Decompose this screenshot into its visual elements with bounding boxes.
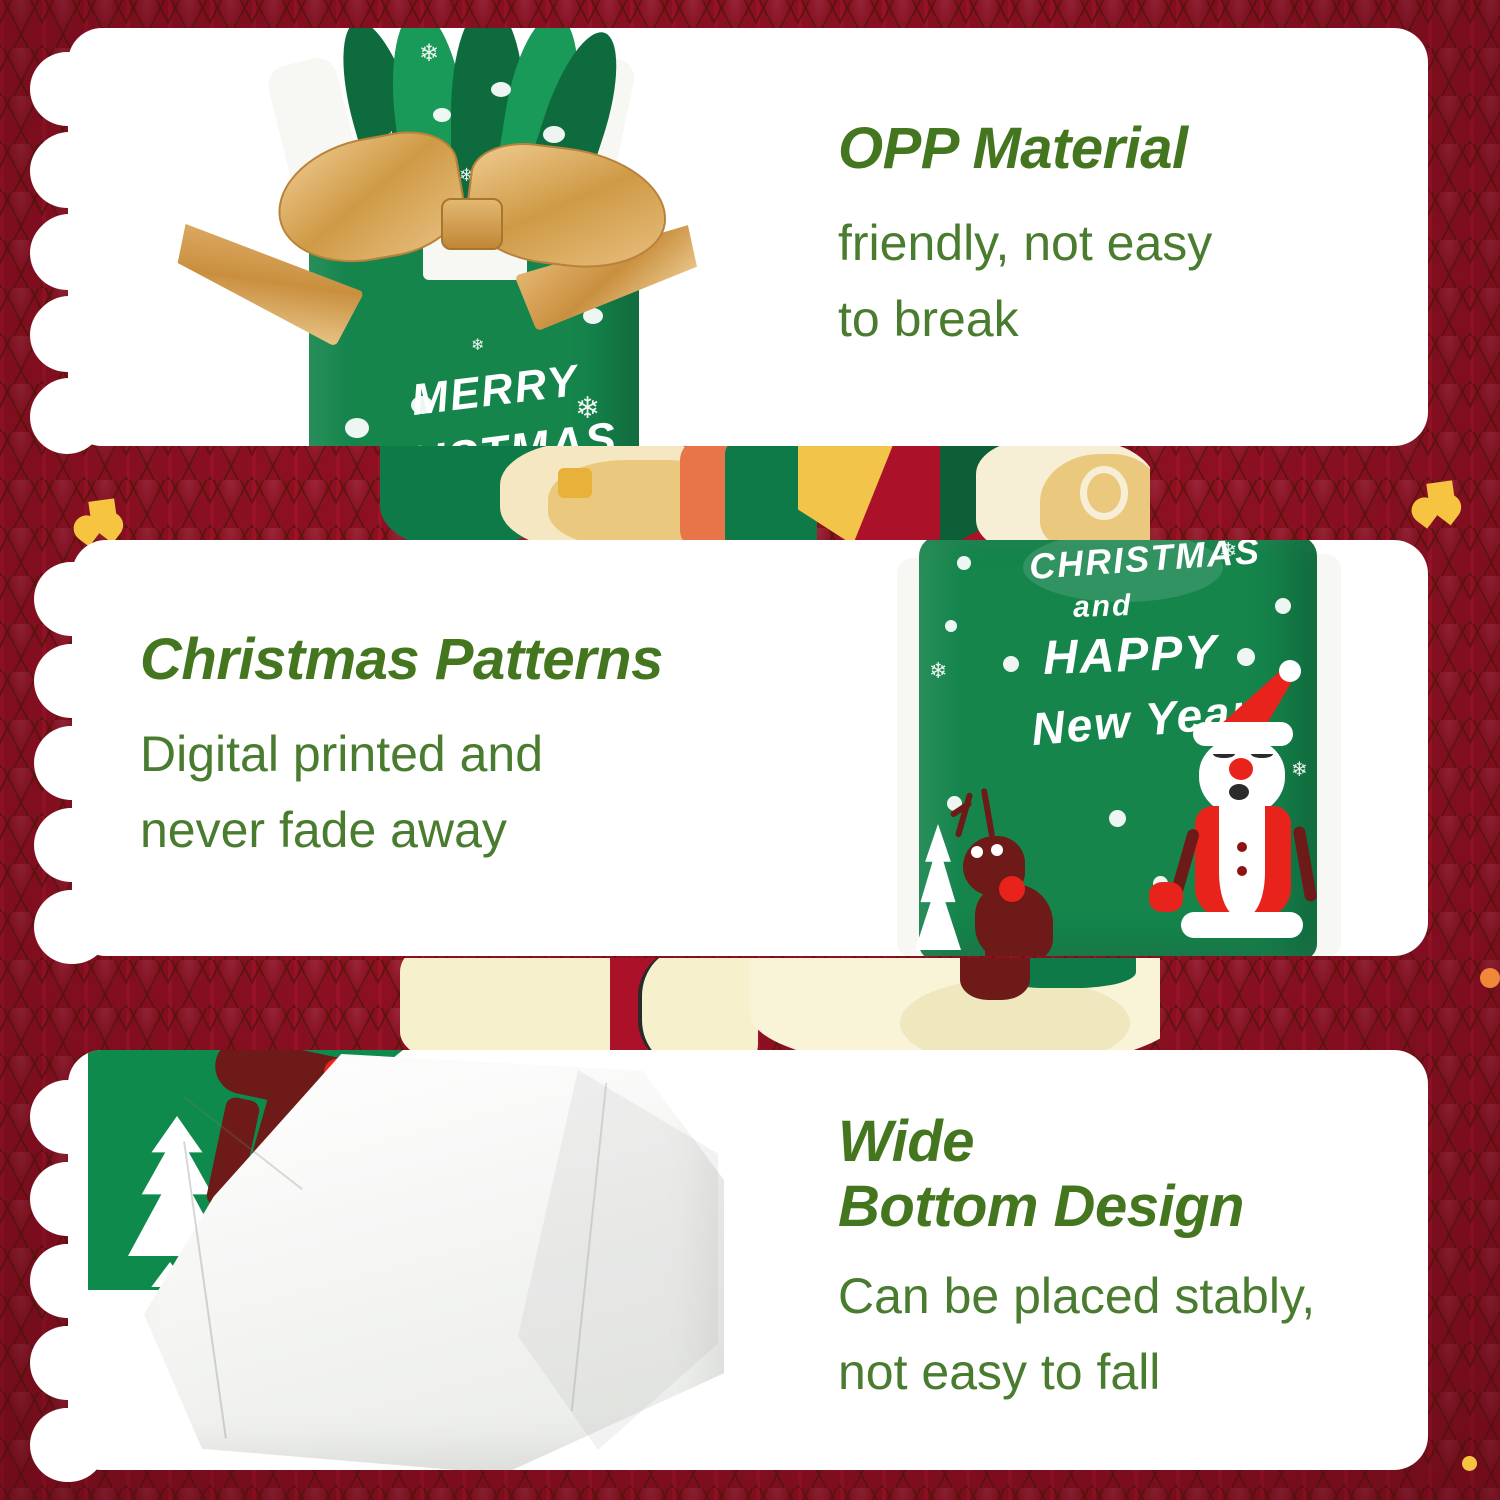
card-2-body-line-2: never fade away <box>140 792 663 868</box>
bag-snowflake: ❄ <box>471 338 484 354</box>
card-2-heading: Christmas Patterns <box>140 628 663 693</box>
card-3-body-line-1: Can be placed stably, <box>838 1258 1315 1334</box>
feature-card-wide-bottom-design: Wide Bottom Design Can be placed stably,… <box>68 1050 1428 1470</box>
bag-reindeer <box>945 784 1065 956</box>
feature-card-opp-material: ❄ ❄ ❄ ❄ ❄ MERRY CHRISTMAS OPP Material f… <box>68 28 1428 446</box>
bag-polka-dot <box>491 82 511 97</box>
product-photo-bleed-top <box>380 446 1150 542</box>
bag-polka-dot <box>345 418 369 438</box>
bag-snow-dot <box>957 556 971 570</box>
yellow-heart-decoration <box>1426 480 1455 509</box>
bag-snow-dot <box>1003 656 1019 672</box>
card-3-heading-line-2: Bottom Design <box>838 1175 1315 1240</box>
card-2-body-line-1: Digital printed and <box>140 716 663 792</box>
card-3-text-block: Wide Bottom Design Can be placed stably,… <box>838 1110 1315 1410</box>
bag-text-and: and <box>1072 589 1132 625</box>
bag-polka-dot <box>543 126 565 143</box>
feature-card-christmas-patterns: Christmas Patterns Digital printed and n… <box>72 540 1428 956</box>
yellow-heart-decoration <box>88 498 117 527</box>
bag-snow-dot <box>1237 648 1255 666</box>
bag-snowflake: ❄ <box>419 42 439 66</box>
bag-snow-dot <box>1109 810 1126 827</box>
card-2-text-block: Christmas Patterns Digital printed and n… <box>140 628 663 869</box>
bow-knot <box>441 198 503 250</box>
bag-snow-dot <box>945 620 957 632</box>
bag-polka-dot <box>433 108 451 122</box>
card-3-heading-line-1: Wide <box>838 1110 1315 1175</box>
gift-bag-wide-flat-bottom-image <box>88 1050 728 1470</box>
orange-dot-decoration <box>1480 968 1500 988</box>
card-1-heading: OPP Material <box>838 117 1212 182</box>
green-gift-bag-with-gold-bow-image: ❄ ❄ ❄ ❄ ❄ MERRY CHRISTMAS <box>223 28 743 446</box>
bag-snow-dot <box>1275 598 1291 614</box>
card-1-text-block: OPP Material friendly, not easy to break <box>838 117 1212 358</box>
bag-santa <box>1167 666 1317 956</box>
bag-snowflake: ❄ <box>929 660 947 682</box>
product-photo-bleed-bottom <box>400 958 1160 1054</box>
card-1-body-line-2: to break <box>838 281 1212 357</box>
card-1-body-line-1: friendly, not easy <box>838 205 1212 281</box>
card-3-body-line-2: not easy to fall <box>838 1334 1315 1410</box>
green-gift-bag-santa-reindeer-image: ❄ ❄ ❄ CHRISTMAS and HAPPY New Year! <box>903 540 1333 956</box>
yellow-dot-decoration <box>1462 1456 1477 1471</box>
